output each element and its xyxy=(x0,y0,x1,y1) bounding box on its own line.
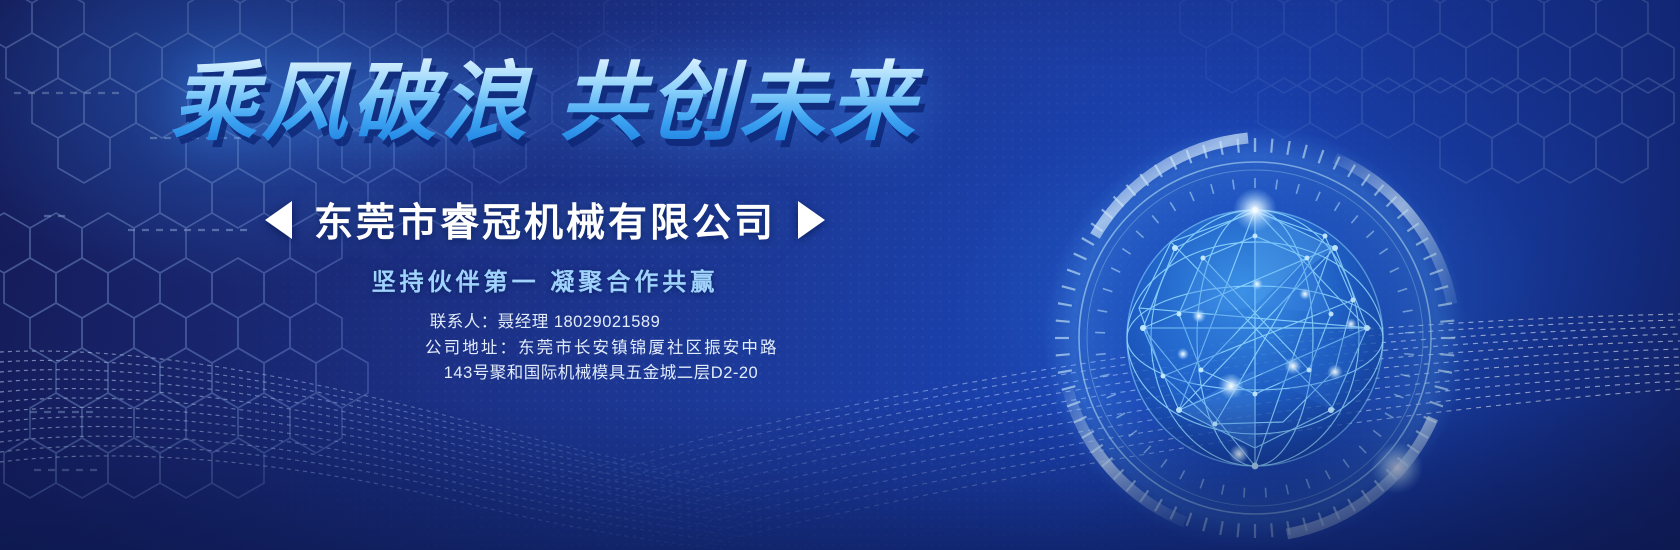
contact-block: 联系人：聂经理 18029021589 公司地址：东莞市长安镇锦厦社区振安中路1… xyxy=(0,310,1090,387)
banner-text-content: 乘风破浪 共创未来 东莞市睿冠机械有限公司 坚持伙伴第一 凝聚合作共赢 联系人：… xyxy=(0,0,1090,550)
left-arrow-icon xyxy=(265,201,292,239)
slogan: 坚持伙伴第一 凝聚合作共赢 xyxy=(0,262,1090,297)
promotional-banner: 乘风破浪 共创未来 东莞市睿冠机械有限公司 坚持伙伴第一 凝聚合作共赢 联系人：… xyxy=(0,0,1680,550)
company-name: 东莞市睿冠机械有限公司 xyxy=(314,192,776,248)
right-arrow-icon xyxy=(798,201,825,239)
company-name-row: 东莞市睿冠机械有限公司 xyxy=(0,192,1090,248)
company-address-line: 公司地址：东莞市长安镇锦厦社区振安中路143号聚和国际机械模具五金城二层D2-2… xyxy=(425,336,777,387)
contact-person-line: 联系人：聂经理 18029021589 xyxy=(0,310,1090,336)
headline: 乘风破浪 共创未来 xyxy=(0,58,1090,148)
